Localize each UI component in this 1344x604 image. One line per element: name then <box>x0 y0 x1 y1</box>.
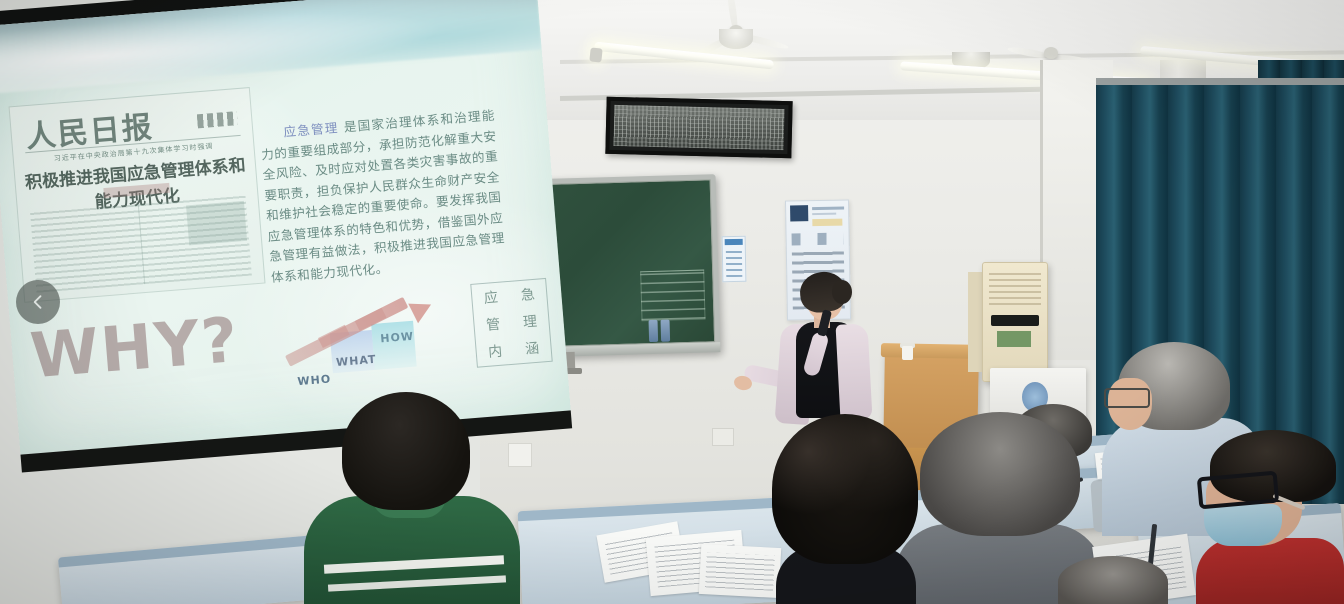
audience-hair <box>772 414 918 564</box>
paper-cup <box>902 346 913 360</box>
grid-cell: 内 <box>476 336 515 366</box>
curtain-rod <box>1096 78 1344 85</box>
ac-label-sticker <box>997 331 1031 347</box>
lecture-photo: 人民日报 习近平在中央政治局第十九次集体学习时强调 积极推进我国应急管理体系和能… <box>0 0 1344 604</box>
slide-why-label: WHY? <box>28 303 242 393</box>
poster-subtitle-line <box>812 213 836 215</box>
light-end-cap <box>589 47 602 62</box>
grid-cell: 急 <box>508 279 547 309</box>
audience-curly-hair <box>762 414 922 604</box>
newspaper-masthead-box <box>197 111 238 128</box>
slide-newspaper-image: 人民日报 习近平在中央政治局第十九次集体学习时强调 积极推进我国应急管理体系和能… <box>9 87 266 303</box>
glasses-icon <box>1104 388 1150 408</box>
ac-vent-slots <box>989 269 1041 305</box>
poster-highlight-band <box>812 219 842 227</box>
notice-text-lines <box>726 249 742 277</box>
chart-label-who: WHO <box>297 372 332 388</box>
grid-cell: 管 <box>474 309 513 339</box>
audience-hair <box>920 412 1080 536</box>
grid-cell: 涵 <box>513 333 552 363</box>
audience-member-front-row <box>1058 556 1168 604</box>
wall-vent-grille <box>605 97 792 159</box>
face-mask-icon <box>1204 504 1282 546</box>
presenter-hair-bun <box>832 280 852 304</box>
fan-dome <box>719 29 753 49</box>
notice-header <box>725 239 743 245</box>
ceiling-fan <box>1050 52 1052 54</box>
slide-arrow-chart: WHO WHAT HOW <box>286 297 437 380</box>
chalkboard-eraser <box>661 320 671 342</box>
grid-cell: 理 <box>510 306 549 336</box>
slide-character-grid: 应 急 管 理 内 涵 <box>470 278 552 368</box>
poster-header-block <box>790 205 808 221</box>
presenter-jacket <box>836 323 873 421</box>
ac-display-panel <box>991 315 1039 326</box>
air-conditioner-side <box>968 272 983 372</box>
audience-red-shirt-masked <box>1196 430 1344 604</box>
previous-button[interactable] <box>16 280 60 324</box>
audience-hair <box>342 392 470 510</box>
newspaper-photo <box>186 201 247 246</box>
poster-title-line <box>812 207 844 211</box>
chart-bar-how <box>371 321 417 370</box>
fan-hub <box>1044 47 1058 59</box>
slide-body-text: 应急管理 是国家治理体系和治理能力的重要组成部分，承担防范化解重大安全风险、及时… <box>259 106 507 288</box>
chalkboard-writing <box>640 270 705 322</box>
wall-notice-sign <box>722 236 747 282</box>
chalkboard-eraser <box>649 320 659 342</box>
audience-torso <box>1196 538 1344 604</box>
slide-body-keyword: 应急管理 <box>283 120 339 139</box>
vent-grille-mesh <box>614 105 785 150</box>
audience-green-polo <box>300 392 520 604</box>
chart-label-how: HOW <box>380 330 415 346</box>
presenter <box>756 276 896 426</box>
wall-outlet <box>712 428 734 446</box>
projection-screen: 人民日报 习近平在中央政治局第十九次集体学习时强调 积极推进我国应急管理体系和能… <box>0 0 571 455</box>
projected-slide: 人民日报 习近平在中央政治局第十九次集体学习时强调 积极推进我国应急管理体系和能… <box>0 0 571 455</box>
grid-cell: 应 <box>471 282 510 312</box>
floor-air-conditioner <box>982 262 1048 382</box>
poster-icons-row <box>792 233 844 246</box>
ceiling-fan <box>735 30 737 32</box>
chevron-left-icon <box>28 292 48 312</box>
